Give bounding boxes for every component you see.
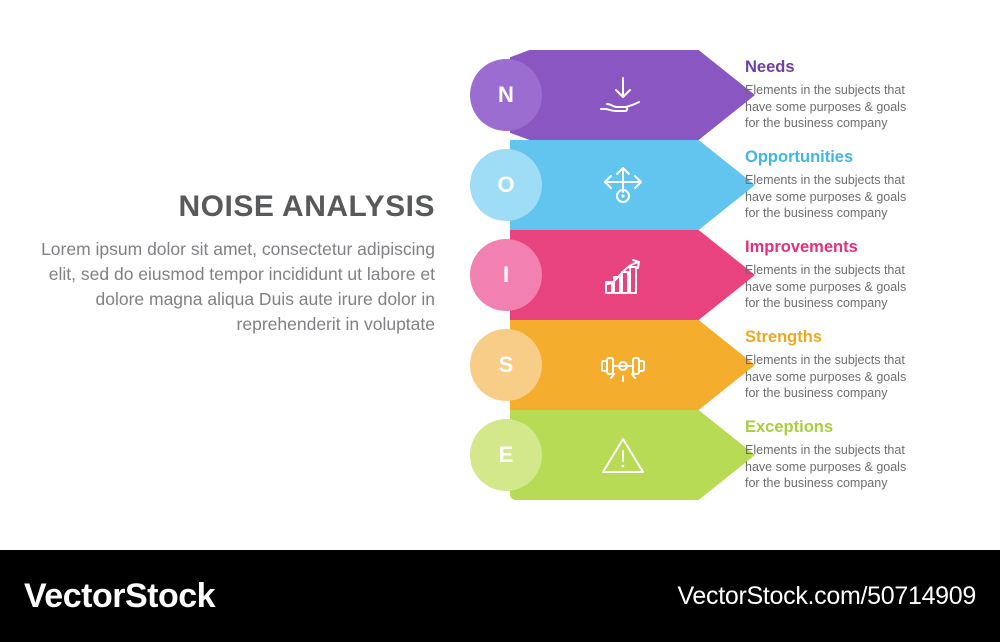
dumbbell-icon	[595, 338, 651, 394]
letter-badge-label: S	[499, 352, 514, 378]
item-title: Strengths	[745, 328, 985, 346]
page-description: Lorem ipsum dolor sit amet, consectetur …	[40, 237, 435, 336]
diagram-row: I Improvements Elements in the subjects …	[470, 230, 990, 320]
warning-triangle-icon	[595, 428, 651, 484]
item-title: Opportunities	[745, 148, 985, 166]
letter-badge-i: I	[470, 239, 542, 311]
item-title: Improvements	[745, 238, 985, 256]
side-text-improvements: Improvements Elements in the subjects th…	[745, 238, 985, 312]
letter-badge-label: E	[499, 442, 514, 468]
item-description: Elements in the subjects that have some …	[745, 172, 985, 222]
infographic-canvas: NOISE ANALYSIS Lorem ipsum dolor sit ame…	[0, 0, 1000, 550]
letter-badge-e: E	[470, 419, 542, 491]
diagram-row: S Strengths Elements in the subjects th	[470, 320, 990, 410]
side-text-needs: Needs Elements in the subjects that have…	[745, 58, 985, 132]
side-text-opportunities: Opportunities Elements in the subjects t…	[745, 148, 985, 222]
page-title: NOISE ANALYSIS	[40, 190, 435, 223]
footer-bar: VectorStock VectorStock.com/50714909	[0, 550, 1000, 642]
noise-diagram: N Needs Elements in the subjects that ha…	[470, 50, 990, 520]
growth-chart-icon	[595, 248, 651, 304]
item-title: Exceptions	[745, 418, 985, 436]
letter-badge-n: N	[470, 59, 542, 131]
letter-badge-label: N	[498, 82, 514, 108]
item-description: Elements in the subjects that have some …	[745, 352, 985, 402]
letter-badge-s: S	[470, 329, 542, 401]
left-text-block: NOISE ANALYSIS Lorem ipsum dolor sit ame…	[40, 190, 435, 336]
letter-badge-label: I	[503, 262, 509, 288]
hand-download-icon	[595, 68, 651, 124]
diagram-row: O Opportunities Elements in the subjects…	[470, 140, 990, 230]
item-title: Needs	[745, 58, 985, 76]
letter-badge-label: O	[497, 172, 514, 198]
item-description: Elements in the subjects that have some …	[745, 442, 985, 492]
footer-credit: VectorStock.com/50714909	[677, 582, 976, 611]
side-text-strengths: Strengths Elements in the subjects that …	[745, 328, 985, 402]
side-text-exceptions: Exceptions Elements in the subjects that…	[745, 418, 985, 492]
direction-arrows-icon	[595, 158, 651, 214]
letter-badge-o: O	[470, 149, 542, 221]
diagram-row: N Needs Elements in the subjects that ha…	[470, 50, 990, 140]
brand-logo: VectorStock	[24, 577, 215, 616]
item-description: Elements in the subjects that have some …	[745, 262, 985, 312]
diagram-row: E Exceptions Elements in the subjects th…	[470, 410, 990, 500]
item-description: Elements in the subjects that have some …	[745, 82, 985, 132]
